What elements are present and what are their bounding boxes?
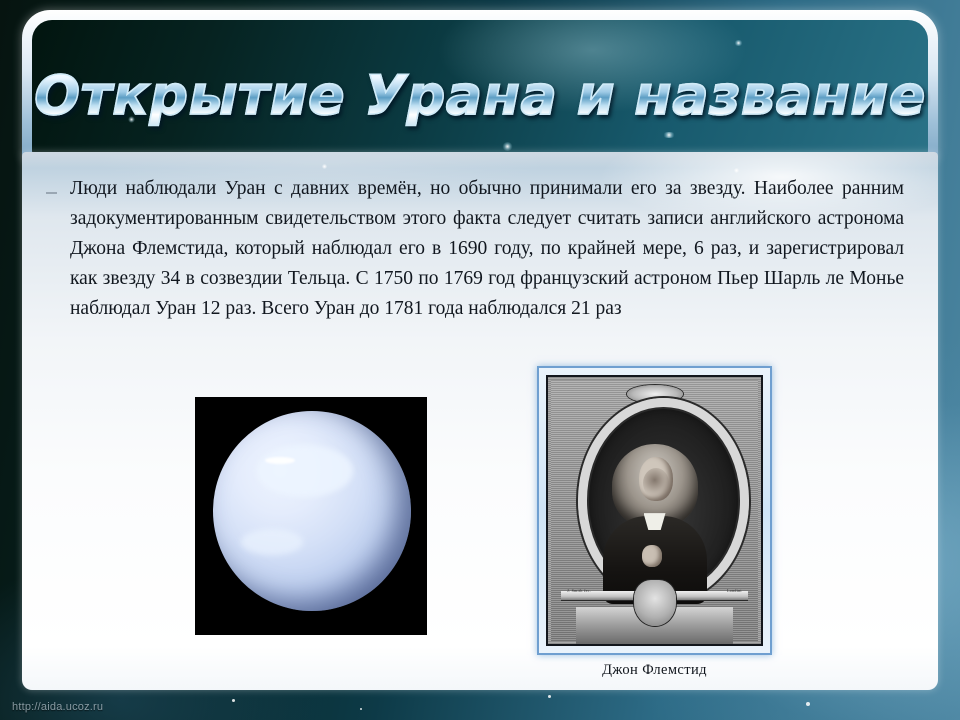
star-glow-icon	[734, 40, 743, 46]
engraving-coat-of-arms	[634, 580, 676, 626]
flamsteed-portrait-image: J. Smith fec. Londini	[537, 366, 772, 655]
uranus-cloud-band	[257, 445, 353, 497]
star-glow-icon	[128, 116, 135, 123]
planet-ring-decor-thin	[210, 20, 928, 146]
star-glow-icon	[734, 168, 739, 173]
uranus-cloud-band	[241, 529, 303, 555]
engraving-hand	[642, 545, 662, 567]
planet-ring-decor-inner	[283, 20, 928, 141]
planet-ring-decor-outer	[137, 20, 928, 154]
title-banner-frame: Открытие Урана и название	[22, 10, 938, 160]
star-glow-icon	[548, 695, 551, 698]
star-glow-icon	[502, 142, 513, 151]
engraving-signature-right: Londini	[727, 588, 742, 593]
footer-strip	[0, 686, 960, 720]
body-text-block: Люди наблюдали Уран с давних времён, но …	[46, 174, 910, 324]
engraving-face-shading	[643, 468, 669, 498]
star-glow-icon	[806, 702, 810, 706]
star-glow-icon	[662, 132, 676, 138]
engraving-plate: J. Smith fec. Londini	[546, 375, 763, 646]
planet-ring-decor-main	[168, 20, 928, 154]
portrait-caption: Джон Флемстид	[537, 662, 772, 679]
presentation-slide: Открытие Урана и название Люди наблюдали…	[0, 0, 960, 720]
source-watermark: http://aida.ucoz.ru	[12, 701, 103, 713]
star-glow-icon	[360, 708, 362, 710]
uranus-cloud-highlight	[265, 457, 295, 464]
title-banner-background	[32, 20, 928, 154]
star-glow-icon	[322, 164, 327, 169]
body-paragraph: Люди наблюдали Уран с давних времён, но …	[46, 174, 910, 324]
bullet-dash-icon	[46, 192, 57, 194]
content-panel: Люди наблюдали Уран с давних времён, но …	[22, 152, 938, 690]
uranus-image	[195, 397, 427, 635]
uranus-disc-icon	[213, 411, 411, 611]
engraving-signature-left: J. Smith fec.	[567, 588, 591, 593]
star-glow-icon	[232, 699, 235, 702]
